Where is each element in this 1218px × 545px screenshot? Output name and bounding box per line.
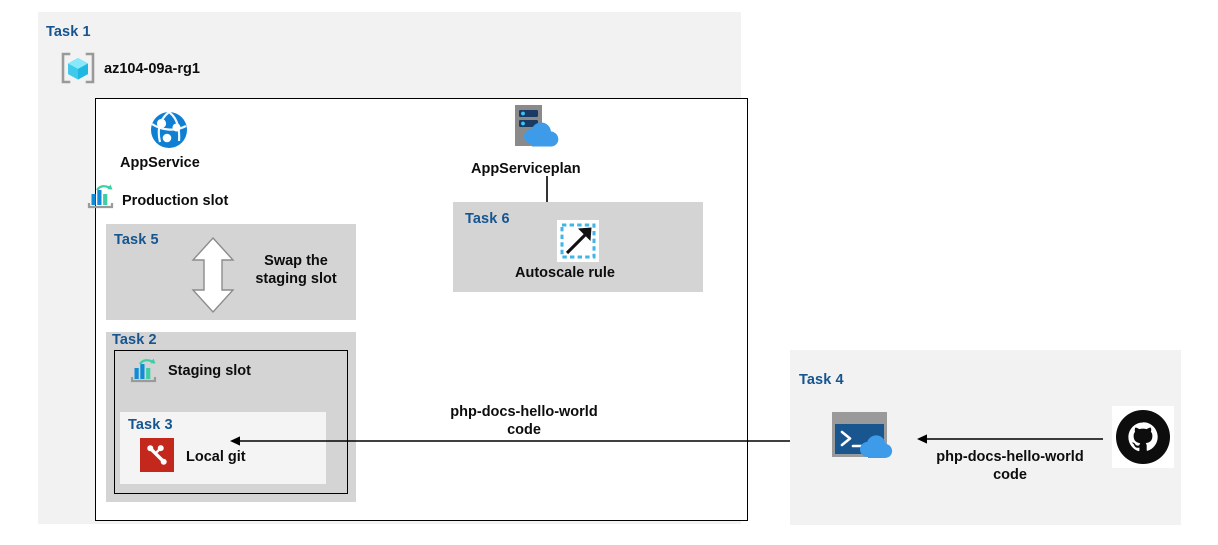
swap-label-line2: staging slot — [242, 270, 350, 288]
local-git-label: Local git — [186, 448, 246, 466]
cloud-shell-icon — [832, 412, 908, 462]
task4-zone: Task 4 php-docs-hello-world code — [790, 350, 1181, 525]
github-to-cloudshell-label-line2: code — [900, 466, 1120, 484]
github-to-cloudshell-label-line1: php-docs-hello-world — [900, 448, 1120, 466]
production-slot-label: Production slot — [122, 192, 228, 210]
task6-label: Task 6 — [465, 211, 510, 227]
github-icon — [1112, 406, 1174, 468]
task3-label: Task 3 — [128, 417, 173, 433]
connector-github-to-cloudshell — [915, 430, 1105, 448]
staging-slot-label: Staging slot — [168, 362, 251, 380]
swap-label-line1: Swap the — [242, 252, 350, 270]
task6-zone: Task 6 Autoscale rule — [453, 202, 703, 292]
app-service-icon — [147, 108, 191, 152]
app-service-plan-icon — [508, 102, 566, 154]
cloudshell-to-localgit-label-line1: php-docs-hello-world — [424, 403, 624, 421]
autoscale-rule-label: Autoscale rule — [515, 264, 615, 282]
autoscale-icon — [557, 220, 599, 262]
task2-label: Task 2 — [112, 332, 157, 348]
deployment-slot-icon-staging — [130, 358, 158, 384]
task4-label: Task 4 — [799, 372, 844, 388]
task5-label: Task 5 — [114, 232, 159, 248]
task1-label: Task 1 — [46, 24, 91, 40]
deployment-slot-icon-production — [87, 184, 115, 210]
connector-cloudshell-to-localgit — [228, 432, 822, 450]
task2-zone: Task 2 Staging slot Task 3 — [106, 332, 356, 502]
double-arrow-vertical-icon — [188, 236, 238, 314]
diagram-canvas: Task 1 az104-09a-rg1 — [0, 0, 1218, 545]
resource-group-icon — [60, 50, 96, 86]
app-service-label: AppService — [120, 154, 200, 172]
resource-group-label: az104-09a-rg1 — [104, 60, 200, 78]
git-icon — [140, 438, 174, 472]
app-service-plan-label: AppServiceplan — [471, 160, 581, 178]
task5-zone: Task 5 Swap the staging slot — [106, 224, 356, 320]
